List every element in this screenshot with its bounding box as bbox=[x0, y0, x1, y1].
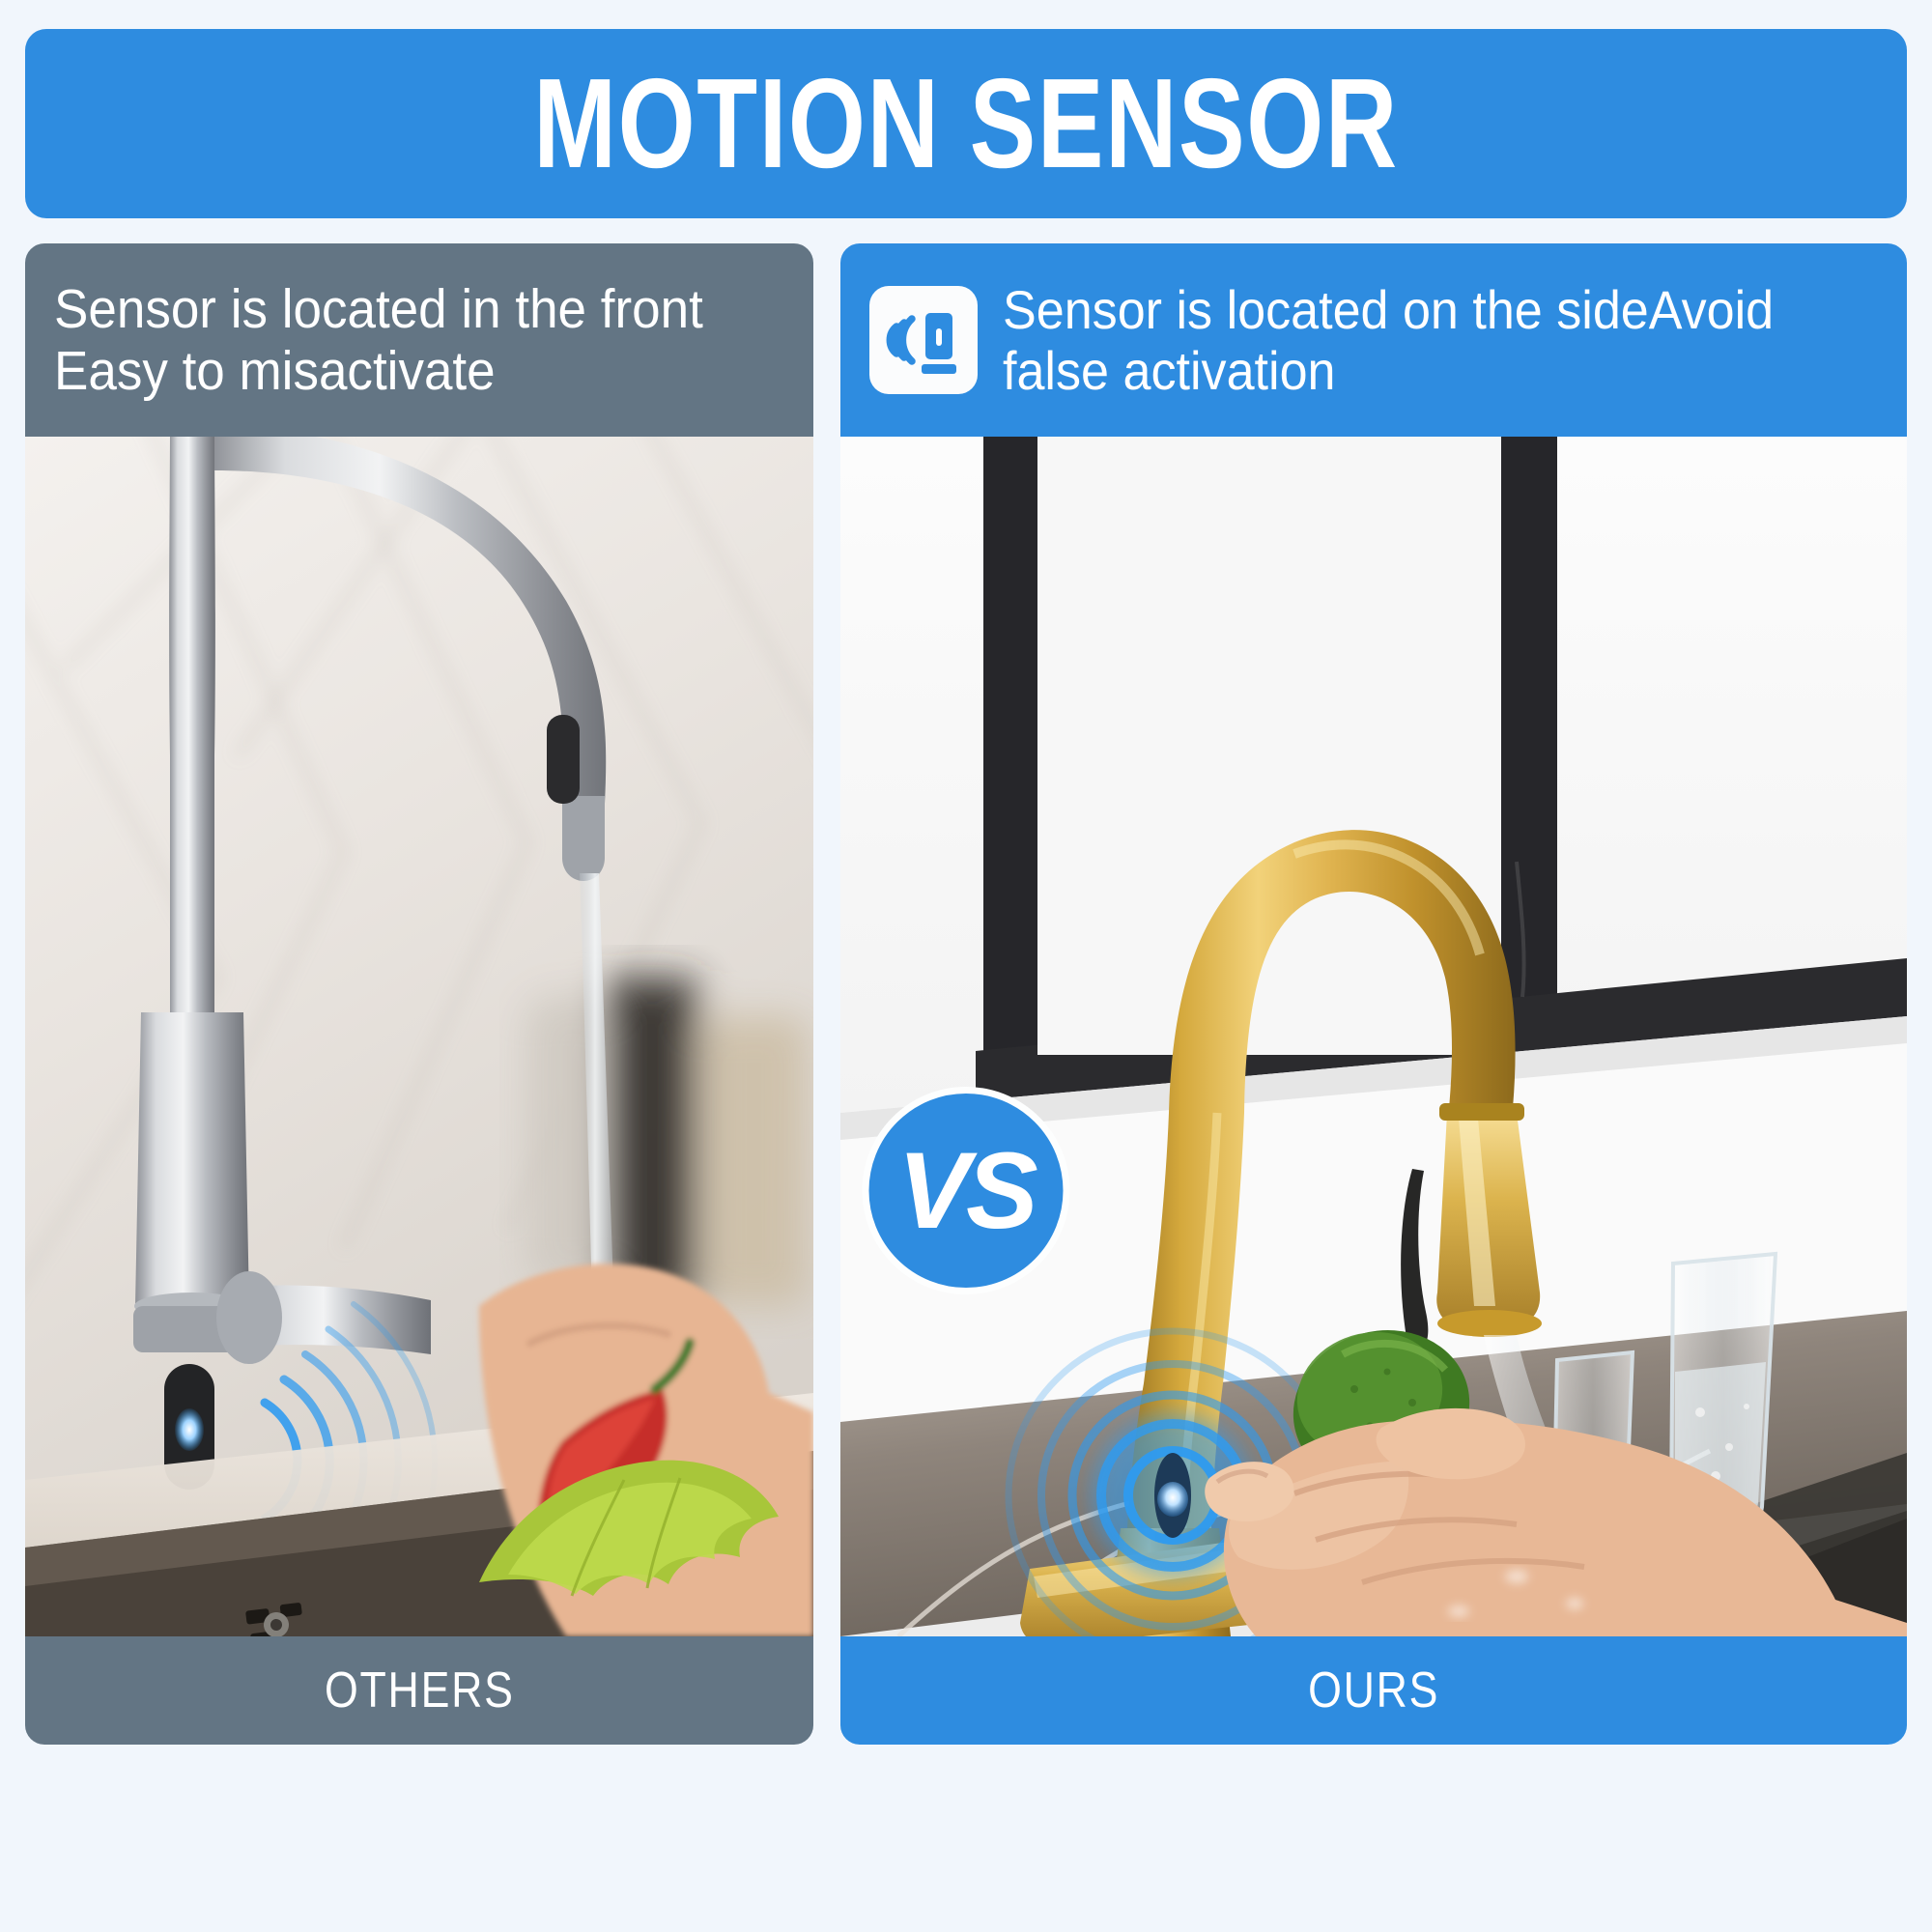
panel-others-footer-label: OTHERS bbox=[325, 1662, 515, 1719]
panel-others-headline: Sensor is located in the front Easy to m… bbox=[54, 278, 733, 403]
header-banner: MOTION SENSOR bbox=[25, 29, 1907, 218]
infographic-page: MOTION SENSOR Sensor is located in the f… bbox=[0, 0, 1932, 1932]
panel-ours: Sensor is located on the sideAvoid false… bbox=[840, 243, 1907, 1745]
motion-sensor-icon bbox=[869, 286, 978, 394]
panel-ours-footer: OURS bbox=[840, 1636, 1907, 1745]
panel-others-header: Sensor is located in the front Easy to m… bbox=[25, 243, 813, 437]
comparison-container: Sensor is located in the front Easy to m… bbox=[25, 243, 1907, 1745]
vs-badge: VS bbox=[863, 1087, 1070, 1294]
others-photo-illustration bbox=[25, 437, 813, 1636]
page-title: MOTION SENSOR bbox=[533, 60, 1399, 187]
panel-others: Sensor is located in the front Easy to m… bbox=[25, 243, 813, 1745]
panel-ours-photo bbox=[840, 437, 1907, 1636]
panel-others-photo bbox=[25, 437, 813, 1636]
panel-ours-headline: Sensor is located on the sideAvoid false… bbox=[1003, 279, 1817, 402]
panel-ours-footer-label: OURS bbox=[1308, 1662, 1439, 1719]
panel-ours-header: Sensor is located on the sideAvoid false… bbox=[840, 243, 1907, 437]
vs-label: VS bbox=[897, 1137, 1034, 1245]
ours-photo-illustration bbox=[840, 437, 1907, 1636]
panel-others-footer: OTHERS bbox=[25, 1636, 813, 1745]
